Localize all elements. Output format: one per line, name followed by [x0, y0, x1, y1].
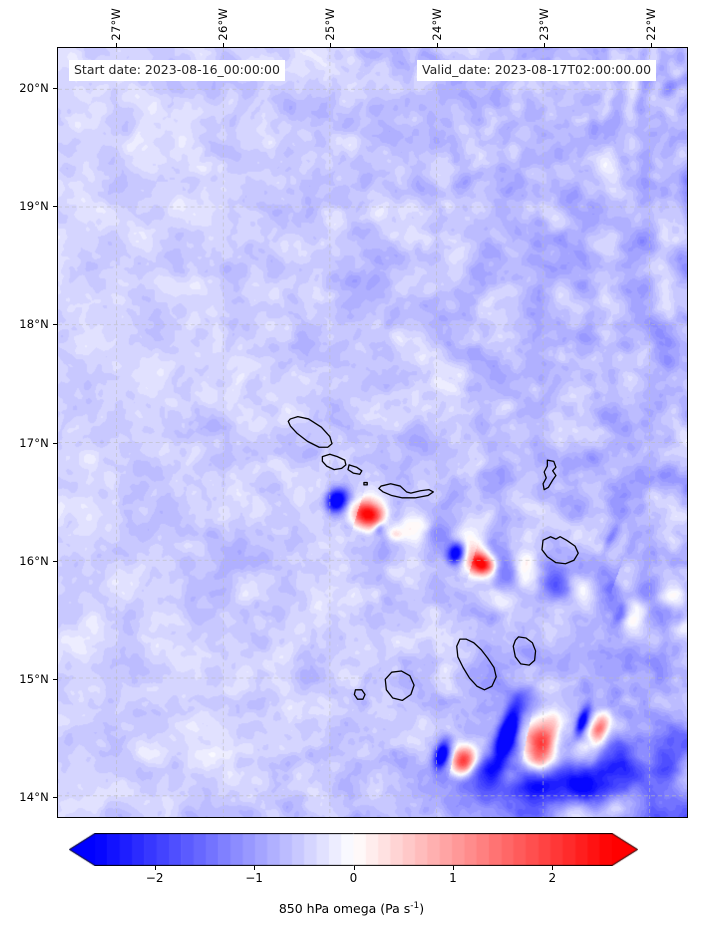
- x-tick-label-26°W: 26°W: [216, 8, 230, 41]
- y-tick-mark: [53, 324, 57, 325]
- x-tick-mark: [651, 43, 652, 47]
- y-tick-label-19°N: 19°N: [0, 199, 49, 213]
- y-tick-mark: [53, 679, 57, 680]
- y-tick-label-15°N: 15°N: [0, 672, 49, 686]
- x-tick-mark: [544, 43, 545, 47]
- x-tick-mark: [437, 43, 438, 47]
- y-tick-label-18°N: 18°N: [0, 317, 49, 331]
- colorbar-tick-label-3: 1: [449, 871, 457, 885]
- x-tick-label-23°W: 23°W: [537, 8, 551, 41]
- y-tick-label-16°N: 16°N: [0, 554, 49, 568]
- y-tick-mark: [53, 561, 57, 562]
- colorbar-label-tail: ): [419, 901, 424, 916]
- y-tick-label-14°N: 14°N: [0, 790, 49, 804]
- colorbar-tick-mark: [155, 866, 156, 870]
- colorbar-tick-mark: [254, 866, 255, 870]
- colorbar-tick-mark: [354, 866, 355, 870]
- valid-date-annotation: Valid_date: 2023-08-17T02:00:00.00: [417, 60, 656, 81]
- x-tick-mark: [330, 43, 331, 47]
- start-date-annotation: Start date: 2023-08-16_00:00:00: [69, 60, 285, 81]
- colorbar-label-exponent: -1: [410, 901, 419, 911]
- colorbar-gradient: [69, 833, 638, 866]
- x-tick-mark: [223, 43, 224, 47]
- y-tick-mark: [53, 206, 57, 207]
- colorbar-tick-label-2: 0: [350, 871, 358, 885]
- colorbar: −2−1012: [69, 833, 638, 866]
- colorbar-tick-mark: [453, 866, 454, 870]
- x-tick-label-24°W: 24°W: [430, 8, 444, 41]
- x-tick-label-25°W: 25°W: [323, 8, 337, 41]
- figure-canvas: Start date: 2023-08-16_00:00:00 Valid_da…: [0, 0, 703, 936]
- colorbar-tick-label-4: 2: [549, 871, 557, 885]
- y-tick-mark: [53, 797, 57, 798]
- x-tick-label-27°W: 27°W: [109, 8, 123, 41]
- y-tick-label-17°N: 17°N: [0, 436, 49, 450]
- map-axes: [57, 47, 688, 818]
- x-tick-label-22°W: 22°W: [644, 8, 658, 41]
- colorbar-label: 850 hPa omega (Pa s-1): [0, 901, 703, 916]
- x-tick-mark: [116, 43, 117, 47]
- y-tick-mark: [53, 88, 57, 89]
- colorbar-tick-label-0: −2: [146, 871, 164, 885]
- y-tick-mark: [53, 443, 57, 444]
- colorbar-label-text: 850 hPa omega (Pa s: [279, 901, 410, 916]
- colorbar-tick-label-1: −1: [245, 871, 263, 885]
- colorbar-tick-mark: [552, 866, 553, 870]
- y-tick-label-20°N: 20°N: [0, 81, 49, 95]
- omega-field-heatmap: [58, 48, 687, 817]
